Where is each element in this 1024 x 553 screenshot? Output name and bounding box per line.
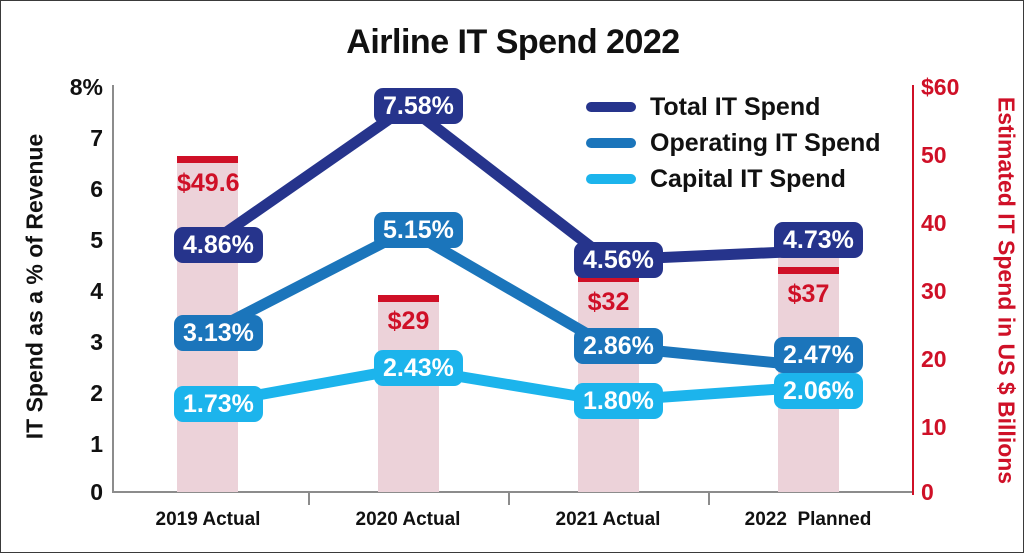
x-axis-label-2019: 2019 Actual (108, 509, 308, 531)
legend-swatch-icon-capital (586, 174, 636, 184)
legend-swatch-icon-operating (586, 138, 636, 148)
x-axis-tick-1 (308, 493, 310, 505)
x-axis-tick-3 (708, 493, 710, 505)
x-axis-label-2022: 2022 Planned (708, 509, 908, 531)
label-operating-2019: 3.13% (174, 315, 263, 351)
label-total-2020: 7.58% (374, 88, 463, 124)
label-total-2019: 4.86% (174, 227, 263, 263)
label-capital-2022: 2.06% (774, 373, 863, 409)
legend-item-operating-it-spend: Operating IT Spend (586, 127, 881, 159)
label-capital-2020: 2.43% (374, 350, 463, 386)
x-axis-label-2021: 2021 Actual (508, 509, 708, 531)
legend-label-operating: Operating IT Spend (650, 129, 881, 158)
line-capital-it-spend (208, 368, 808, 404)
label-total-2022: 4.73% (774, 222, 863, 258)
legend-item-total-it-spend: Total IT Spend (586, 91, 881, 123)
legend-label-capital: Capital IT Spend (650, 165, 846, 194)
label-capital-2019: 1.73% (174, 386, 263, 422)
series-lines (1, 1, 1024, 553)
legend-label-total: Total IT Spend (650, 93, 820, 122)
x-axis-tick-2 (508, 493, 510, 505)
chart-canvas: Airline IT Spend 2022 IT Spend as a % of… (0, 0, 1024, 553)
x-axis-label-2020: 2020 Actual (308, 509, 508, 531)
label-operating-2020: 5.15% (374, 212, 463, 248)
label-total-2021: 4.56% (574, 242, 663, 278)
legend: Total IT Spend Operating IT Spend Capita… (586, 91, 881, 199)
legend-item-capital-it-spend: Capital IT Spend (586, 163, 881, 195)
legend-swatch-icon-total (586, 102, 636, 112)
label-capital-2021: 1.80% (574, 383, 663, 419)
label-operating-2022: 2.47% (774, 337, 863, 373)
label-operating-2021: 2.86% (574, 328, 663, 364)
